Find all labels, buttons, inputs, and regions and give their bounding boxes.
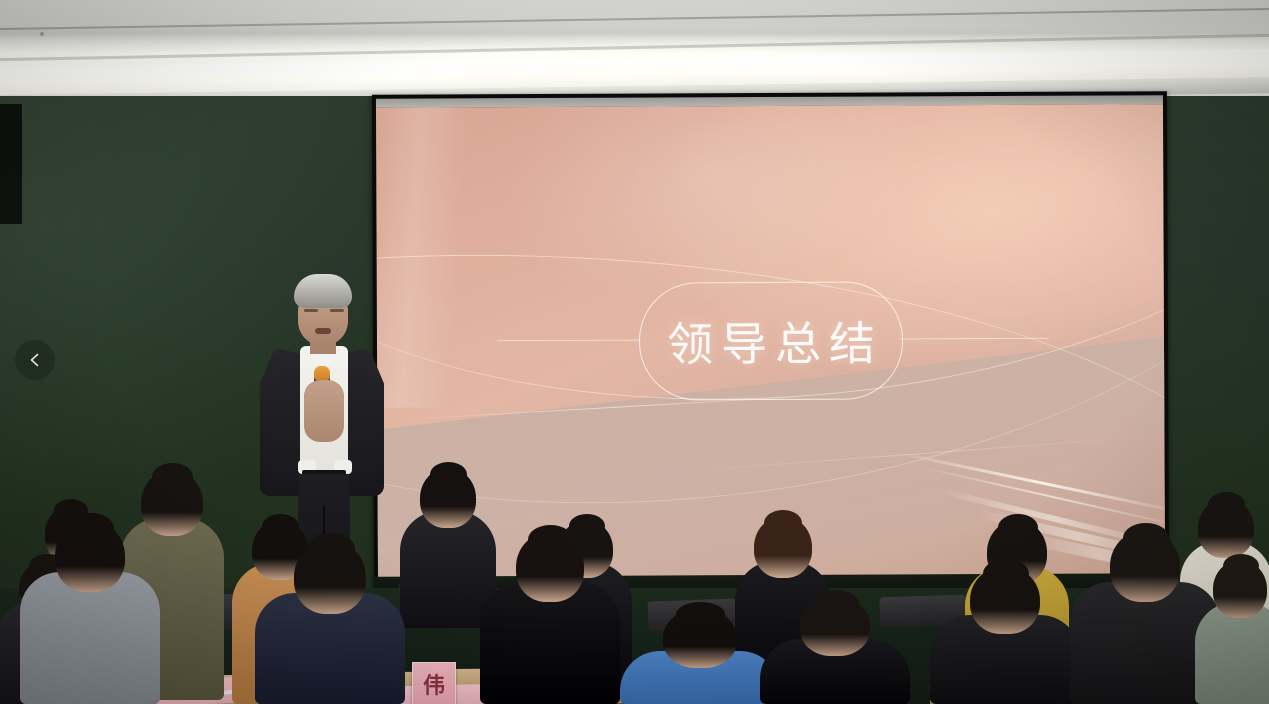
speaker-hands — [304, 380, 344, 442]
speaker-brow — [304, 309, 318, 312]
slide-title-badge: 领导总结 — [639, 281, 904, 400]
slide-title-text: 领导总结 — [659, 308, 883, 375]
audience-member — [620, 608, 780, 704]
ceiling-fixture-dot — [40, 32, 44, 36]
audience-member-hair — [676, 602, 725, 627]
audience-member-hair — [528, 525, 573, 554]
audience-member-hair — [430, 462, 467, 487]
speaker-hair — [294, 274, 352, 308]
speaker-mouth — [315, 328, 331, 334]
audience-member-hair — [1208, 492, 1245, 517]
audience-member — [480, 532, 620, 704]
previous-photo-button[interactable] — [15, 340, 55, 380]
audience-member — [255, 540, 405, 704]
chevron-left-icon — [27, 352, 43, 368]
audience-member-hair — [813, 590, 859, 615]
slide-connector-line — [497, 340, 641, 342]
speaker-brow — [330, 309, 344, 312]
audience-member-hair — [152, 463, 193, 491]
audience-member-hair — [998, 514, 1038, 541]
microphone-head — [314, 366, 330, 380]
audience-member — [1195, 560, 1269, 704]
place-namecard: 伟 — [412, 662, 456, 704]
slide-connector-line — [899, 338, 1049, 340]
audience-member-hair — [262, 514, 299, 539]
audience-member — [930, 566, 1080, 704]
audience-member-hair — [1223, 554, 1259, 578]
audience-member-hair — [1123, 523, 1169, 553]
wall-left-recess — [0, 104, 22, 224]
audience-member — [20, 520, 160, 704]
audience-member-hair — [68, 513, 114, 543]
audience-member-hair — [764, 510, 802, 536]
audience-member-hair — [307, 533, 355, 564]
audience-member — [760, 596, 910, 704]
photo-canvas: 领导总结 伟 — [0, 0, 1269, 704]
audience-member-hair — [983, 559, 1029, 588]
